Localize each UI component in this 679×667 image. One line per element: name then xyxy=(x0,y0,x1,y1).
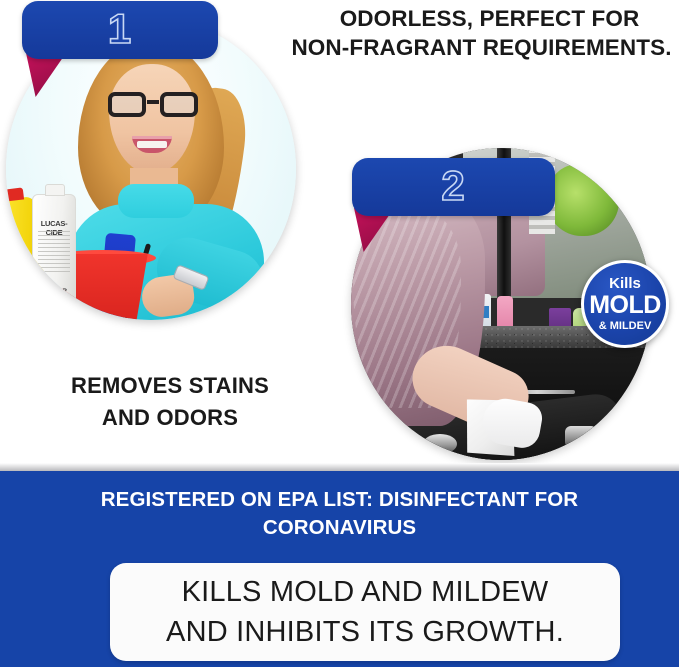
infographic-page: ODORLESS, PERFECT FOR NON-FRAGRANT REQUI… xyxy=(0,0,679,667)
kills-mold-seal: Kills MOLD & MILDEV xyxy=(581,260,669,348)
section-divider xyxy=(0,463,679,471)
step-1-caption-line2: AND ODORS xyxy=(32,402,308,434)
plant-shape xyxy=(547,164,619,236)
top-headline-line2: NON-FRAGRANT REQUIREMENTS. xyxy=(284,33,679,62)
seal-line-kills: Kills xyxy=(609,276,641,291)
chair-chrome-ring xyxy=(423,434,457,454)
epa-heading-line1: REGISTERED ON EPA LIST: DISINFECTANT FOR xyxy=(28,486,651,514)
step-2-number-badge: 2 xyxy=(352,158,555,258)
badge-1-tail xyxy=(26,53,66,97)
epa-heading-line2: CORONAVIRUS xyxy=(28,514,651,542)
badge-2-bubble: 2 xyxy=(352,158,555,216)
callout-line1: KILLS MOLD AND MILDEW xyxy=(166,572,564,612)
kills-mold-callout-box: KILLS MOLD AND MILDEW AND INHIBITS ITS G… xyxy=(110,563,620,661)
step-1-number-badge: 1 xyxy=(22,1,218,101)
chair-chrome-arm xyxy=(565,426,597,448)
badge-1-bubble: 1 xyxy=(22,1,218,59)
yellow-bottle-cap xyxy=(6,187,24,201)
seal-line-mildev: & MILDEV xyxy=(599,321,652,332)
lucas-cide-bottle: LUCAS-CIDE DANGER xyxy=(32,194,76,320)
callout-line2: AND INHIBITS ITS GROWTH. xyxy=(166,612,564,652)
epa-banner: REGISTERED ON EPA LIST: DISINFECTANT FOR… xyxy=(0,471,679,667)
step-1-caption: REMOVES STAINS AND ODORS xyxy=(32,370,308,434)
top-headline: ODORLESS, PERFECT FOR NON-FRAGRANT REQUI… xyxy=(300,4,679,63)
epa-banner-heading: REGISTERED ON EPA LIST: DISINFECTANT FOR… xyxy=(28,486,651,543)
step-1-caption-line1: REMOVES STAINS xyxy=(32,370,308,402)
kills-mold-callout-text: KILLS MOLD AND MILDEW AND INHIBITS ITS G… xyxy=(166,572,564,652)
seal-line-mold: MOLD xyxy=(589,293,661,318)
badge-1-numeral: 1 xyxy=(108,8,132,53)
turtleneck-collar xyxy=(118,184,194,218)
bottle-fine-print xyxy=(38,231,70,275)
badge-2-numeral: 2 xyxy=(441,165,465,210)
bottle-cap xyxy=(45,184,65,196)
bottle-warning-label: DANGER xyxy=(33,289,75,295)
top-headline-line1: ODORLESS, PERFECT FOR xyxy=(300,4,679,33)
